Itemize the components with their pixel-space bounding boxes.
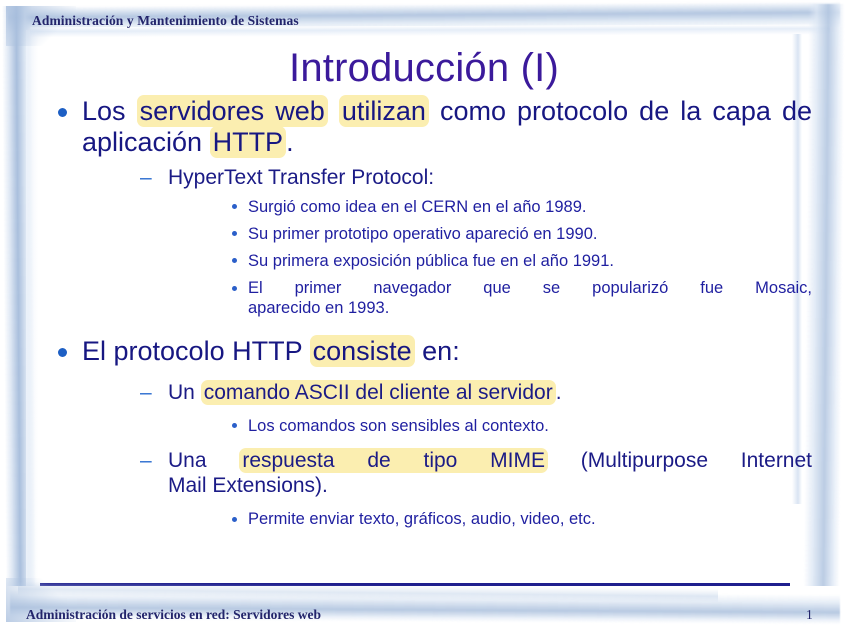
bullet-level3-permite-enviar: Permite enviar texto, gráficos, audio, v… (36, 509, 812, 529)
bullet-level2-respuesta-mime: – Una respuesta de tipo MIME (Multipurpo… (36, 448, 812, 498)
text-fragment (328, 96, 339, 126)
text-fragment: . (286, 127, 294, 157)
text-fragment: en: (415, 336, 460, 366)
bullet-dot-small-icon (232, 517, 237, 522)
bullet-level1-item1: Los servidores web utilizan como protoco… (36, 96, 812, 159)
bullet-dot-small-icon (232, 204, 237, 209)
bullet-level2-hypertext: – HyperText Transfer Protocol: (36, 165, 812, 190)
bullet-level3-item4: El primer navegador que se popularizó fu… (36, 278, 812, 318)
bullet-level3-item1: Surgió como idea en el CERN en el año 19… (36, 197, 812, 217)
text-fragment: El protocolo HTTP (82, 336, 310, 366)
bullet-level3-label: Surgió como idea en el CERN en el año 19… (248, 198, 586, 216)
bullet-level3-label-line1: El primer navegador que se popularizó fu… (248, 278, 812, 298)
slide-header: Administración y Mantenimiento de Sistem… (32, 13, 299, 29)
dash-bullet-icon: – (140, 165, 152, 190)
text-fragment: . (556, 381, 562, 404)
bullet-level2-comando-ascii: – Un comando ASCII del cliente al servid… (36, 380, 812, 405)
bullet-dot-icon (58, 348, 67, 357)
bullet-level3-item2: Su primer prototipo operativo apareció e… (36, 224, 812, 244)
highlight-servidores-web: servidores web (137, 95, 328, 127)
bullet-dot-icon (58, 108, 67, 117)
bullet-level3-label: Los comandos son sensibles al contexto. (248, 417, 549, 435)
highlight-http: HTTP (210, 126, 287, 158)
text-fragment: Un (168, 381, 201, 404)
bullet-level1-item2: El protocolo HTTP consiste en: (36, 336, 812, 367)
bullet-dot-small-icon (232, 231, 237, 236)
text-fragment: (Multipurpose Internet (548, 449, 812, 472)
bullet-level3-label: Permite enviar texto, gráficos, audio, v… (248, 510, 596, 528)
text-fragment: Una (168, 449, 239, 472)
page-title: Introducción (I) (0, 46, 848, 91)
text-fragment: Los (82, 96, 137, 126)
highlight-respuesta-mime: respuesta de tipo MIME (239, 448, 548, 473)
slide-canvas: Administración y Mantenimiento de Sistem… (0, 0, 848, 635)
dash-bullet-icon: – (140, 380, 152, 405)
bullet-dot-small-icon (232, 258, 237, 263)
bullet-level2-label: HyperText Transfer Protocol: (168, 166, 434, 189)
decorative-frame-left (2, 6, 36, 618)
bullet-level2-line2: Mail Extensions). (168, 473, 812, 498)
highlight-consiste: consiste (310, 335, 415, 367)
highlight-comando-ascii: comando ASCII del cliente al servidor (201, 380, 556, 405)
bullet-level3-label: Su primer prototipo operativo apareció e… (248, 225, 597, 243)
bullet-level3-label: Su primera exposición pública fue en el … (248, 252, 614, 270)
dash-bullet-icon: – (140, 448, 152, 473)
slide-body: Los servidores web utilizan como protoco… (36, 96, 812, 530)
bullet-dot-small-icon (232, 423, 237, 428)
bullet-level2-line1: Una respuesta de tipo MIME (Multipurpose… (168, 448, 812, 473)
bullet-dot-small-icon (232, 286, 237, 291)
page-number: 1 (806, 607, 813, 623)
footer-label: Administración de servicios en red: Serv… (26, 607, 321, 623)
bullet-level3-label-line2: aparecido en 1993. (248, 298, 812, 318)
footer-divider (40, 583, 790, 586)
bullet-level3-comandos-contexto: Los comandos son sensibles al contexto. (36, 416, 812, 436)
highlight-utilizan: utilizan (339, 95, 429, 127)
bullet-level3-item3: Su primera exposición pública fue en el … (36, 251, 812, 271)
